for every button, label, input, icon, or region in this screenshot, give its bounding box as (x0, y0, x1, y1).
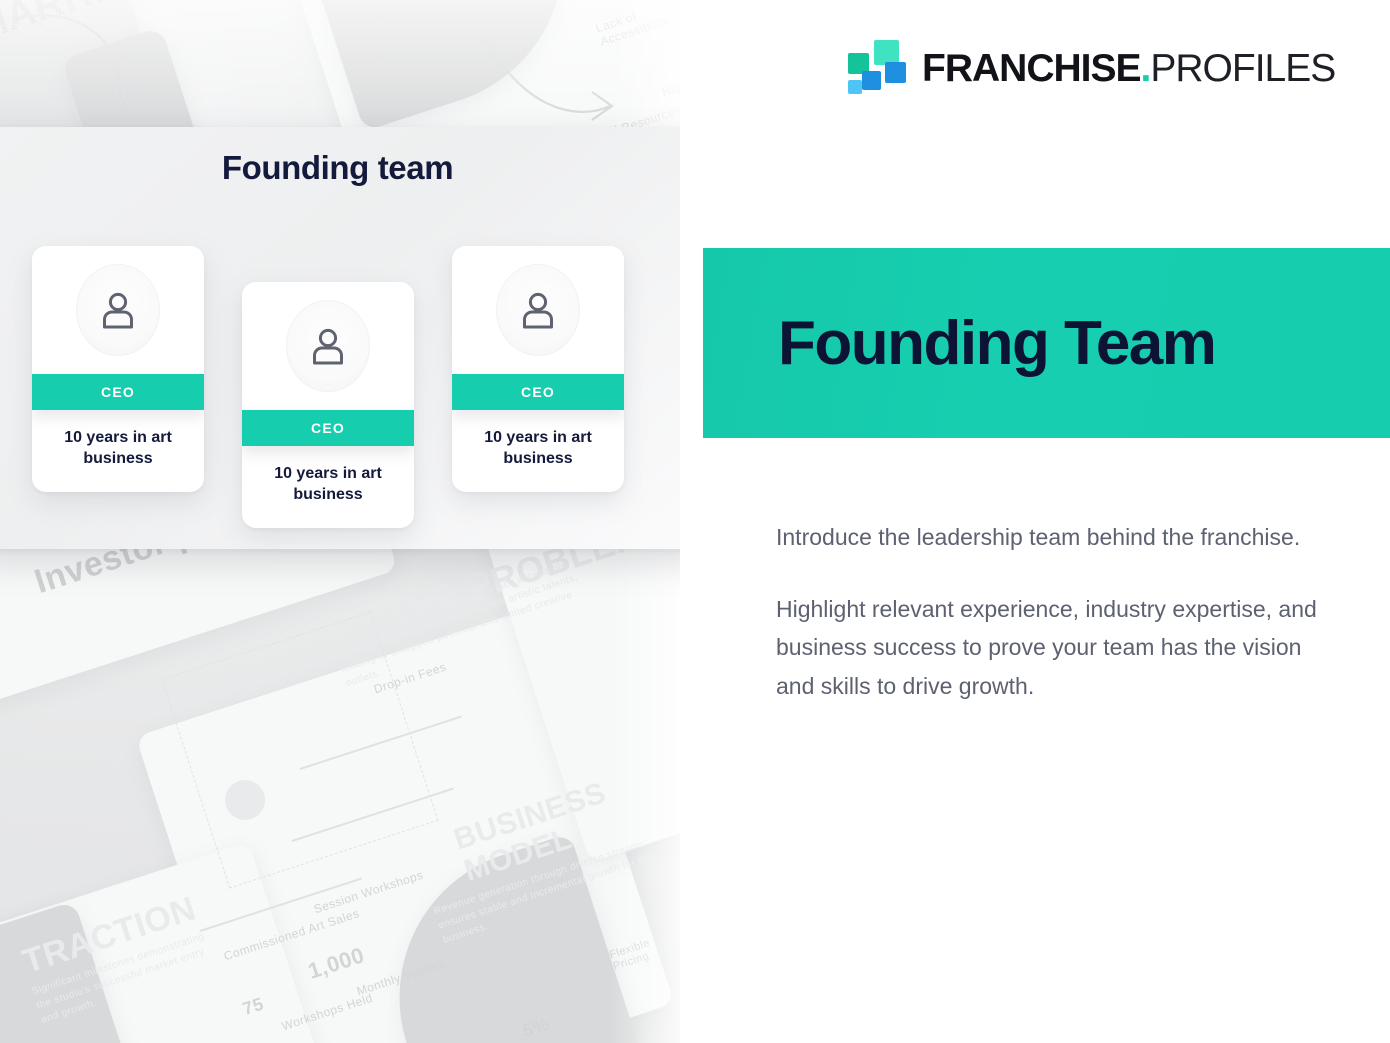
right-content-panel: FRANCHISE . PROFILES Founding Team Intro… (680, 0, 1390, 1043)
member-description: 10 years in art business (32, 410, 204, 492)
brand-dot: . (1141, 47, 1151, 91)
avatar-zone (452, 246, 624, 374)
four-squares-mark-icon (848, 40, 904, 98)
description-paragraph: Highlight relevant experience, industry … (776, 590, 1346, 705)
page-title: Founding Team (778, 308, 1215, 379)
founding-team-preview-card: Founding team CEO 10 years in art busine… (0, 127, 705, 549)
brand-word-primary: FRANCHISE (922, 47, 1141, 91)
avatar-zone (242, 282, 414, 410)
team-member-card[interactable]: CEO 10 years in art business (452, 246, 624, 492)
role-badge: CEO (32, 374, 204, 410)
section-title-banner: Founding Team (703, 248, 1390, 438)
team-member-card[interactable]: CEO 10 years in art business (32, 246, 204, 492)
avatar-zone (32, 246, 204, 374)
role-badge: CEO (242, 410, 414, 446)
member-description: 10 years in art business (452, 410, 624, 492)
bg-arrow-curve-left (20, 6, 150, 126)
bg-coin-circle (225, 780, 265, 820)
role-badge: CEO (452, 374, 624, 410)
brand-word-secondary: PROFILES (1150, 47, 1335, 91)
preview-card-title: Founding team (0, 149, 675, 187)
avatar (496, 264, 580, 356)
brand-logo[interactable]: FRANCHISE . PROFILES (848, 40, 1335, 98)
person-icon (519, 290, 557, 330)
team-member-card[interactable]: CEO 10 years in art business (242, 282, 414, 528)
brand-wordmark: FRANCHISE . PROFILES (922, 47, 1335, 91)
avatar (76, 264, 160, 356)
description-paragraph: Introduce the leadership team behind the… (776, 518, 1346, 556)
person-icon (99, 290, 137, 330)
avatar (286, 300, 370, 392)
member-description: 10 years in art business (242, 446, 414, 528)
bg-arrow-curve-right (480, 30, 620, 140)
section-description: Introduce the leadership team behind the… (776, 518, 1346, 705)
person-icon (309, 326, 347, 366)
